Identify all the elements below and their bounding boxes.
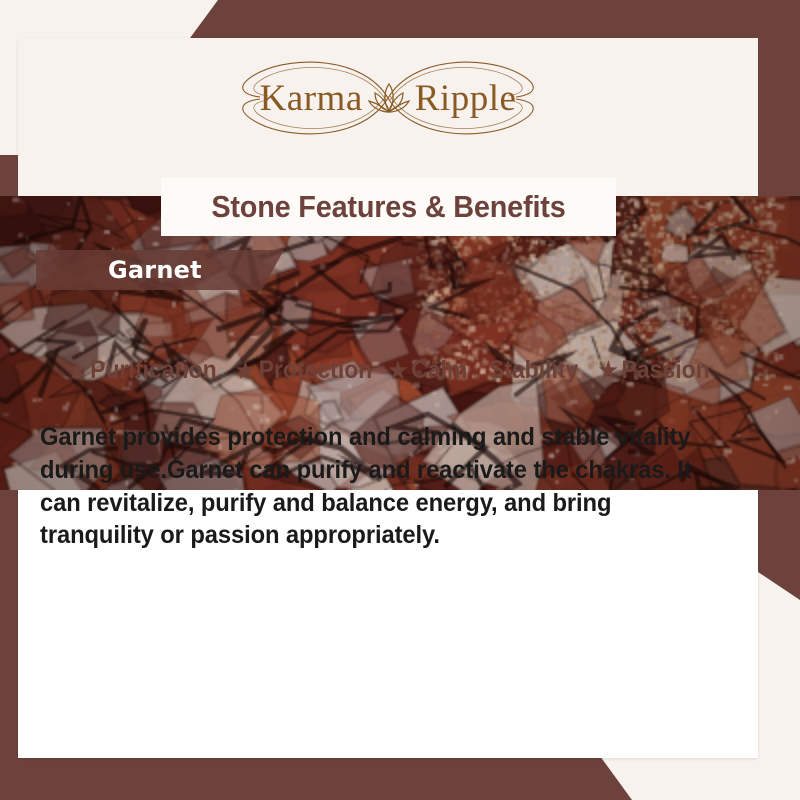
section-title-bar: Stone Features & Benefits [161,178,616,236]
stone-name-banner: Garnet [36,250,284,290]
star-icon: ★ [68,359,87,382]
feature-item: ★Calm [389,356,468,385]
card-page: Karma Ripple Garnet [18,38,758,758]
feature-label: Stability [489,356,578,385]
feature-item: ★Protection [236,356,372,385]
brand-word-karma: Karma [260,80,363,117]
brand-logo: Karma Ripple [18,38,758,158]
stone-info-card: Karma Ripple Garnet [0,0,800,800]
feature-item: ★Purification [68,356,217,385]
feature-label: Purification [90,356,217,385]
frame-band-top [0,0,800,38]
feature-item: ★Passion [599,356,710,385]
feature-label: Protection [259,356,373,385]
feature-item: Stability [489,356,578,385]
lotus-icon [367,78,411,118]
star-icon: ★ [236,359,255,382]
star-icon: ★ [389,359,408,382]
brand-word-ripple: Ripple [415,80,517,117]
stone-description: Garnet provides protection and calming a… [40,421,705,552]
page-title: Stone Features & Benefits [211,189,565,225]
star-icon: ★ [599,359,618,382]
feature-label: Passion [622,356,710,385]
frame-band-bottom [0,756,800,800]
feature-label: Calm [412,356,468,385]
feature-list: ★Purification★Protection★CalmStability★P… [18,356,758,385]
stone-name-label: Garnet [36,256,202,284]
